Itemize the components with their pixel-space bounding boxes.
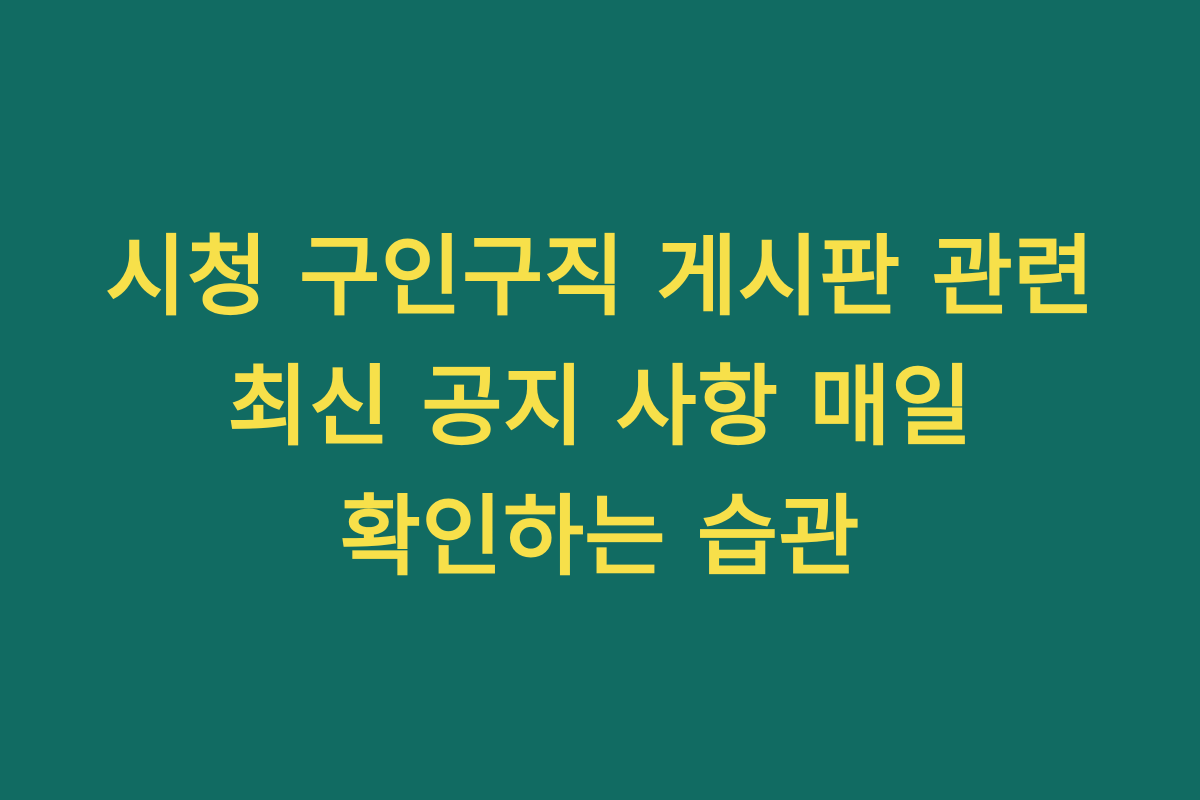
headline-text: 시청 구인구직 게시판 관련 최신 공지 사항 매일 확인하는 습관 [80,212,1120,603]
banner-canvas: 시청 구인구직 게시판 관련 최신 공지 사항 매일 확인하는 습관 [0,0,1200,800]
